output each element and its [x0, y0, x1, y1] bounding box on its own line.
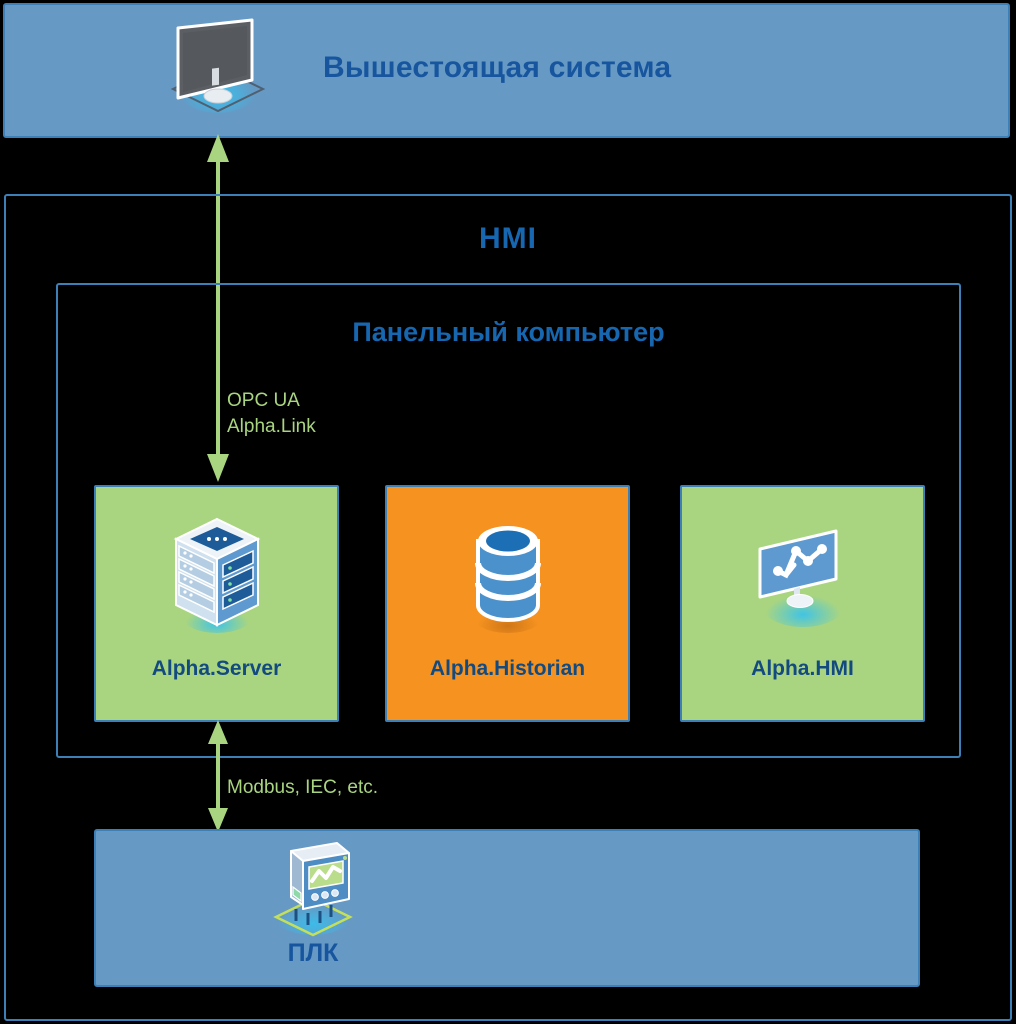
server-rack-icon [96, 513, 337, 643]
diagram-canvas: Вышестоящая система OPC UA Alpha.Link HM… [0, 0, 1016, 1024]
monitor-icon [160, 13, 280, 128]
connector-label-fieldbus-line1: Modbus, IEC, etc. [227, 775, 378, 801]
hmi-screen-icon [682, 513, 923, 643]
card-alpha-server-label: Alpha.Server [96, 657, 337, 681]
superior-system-label: Вышестоящая система [323, 51, 671, 85]
plc-device-icon [248, 841, 378, 941]
card-alpha-historian[interactable]: Alpha.Historian [385, 485, 630, 722]
panel-computer-title: Панельный компьютер [56, 317, 961, 348]
database-icon [387, 513, 628, 643]
plc-box[interactable]: ПЛК [94, 829, 920, 987]
plc-label: ПЛК [248, 939, 378, 968]
hmi-title: HMI [0, 222, 1016, 256]
connector-label-fieldbus: Modbus, IEC, etc. [227, 775, 378, 801]
card-alpha-historian-label: Alpha.Historian [387, 657, 628, 681]
superior-system-box[interactable]: Вышестоящая система [3, 3, 1010, 138]
card-alpha-hmi-label: Alpha.HMI [682, 657, 923, 681]
card-alpha-hmi[interactable]: Alpha.HMI [680, 485, 925, 722]
card-alpha-server[interactable]: Alpha.Server [94, 485, 339, 722]
